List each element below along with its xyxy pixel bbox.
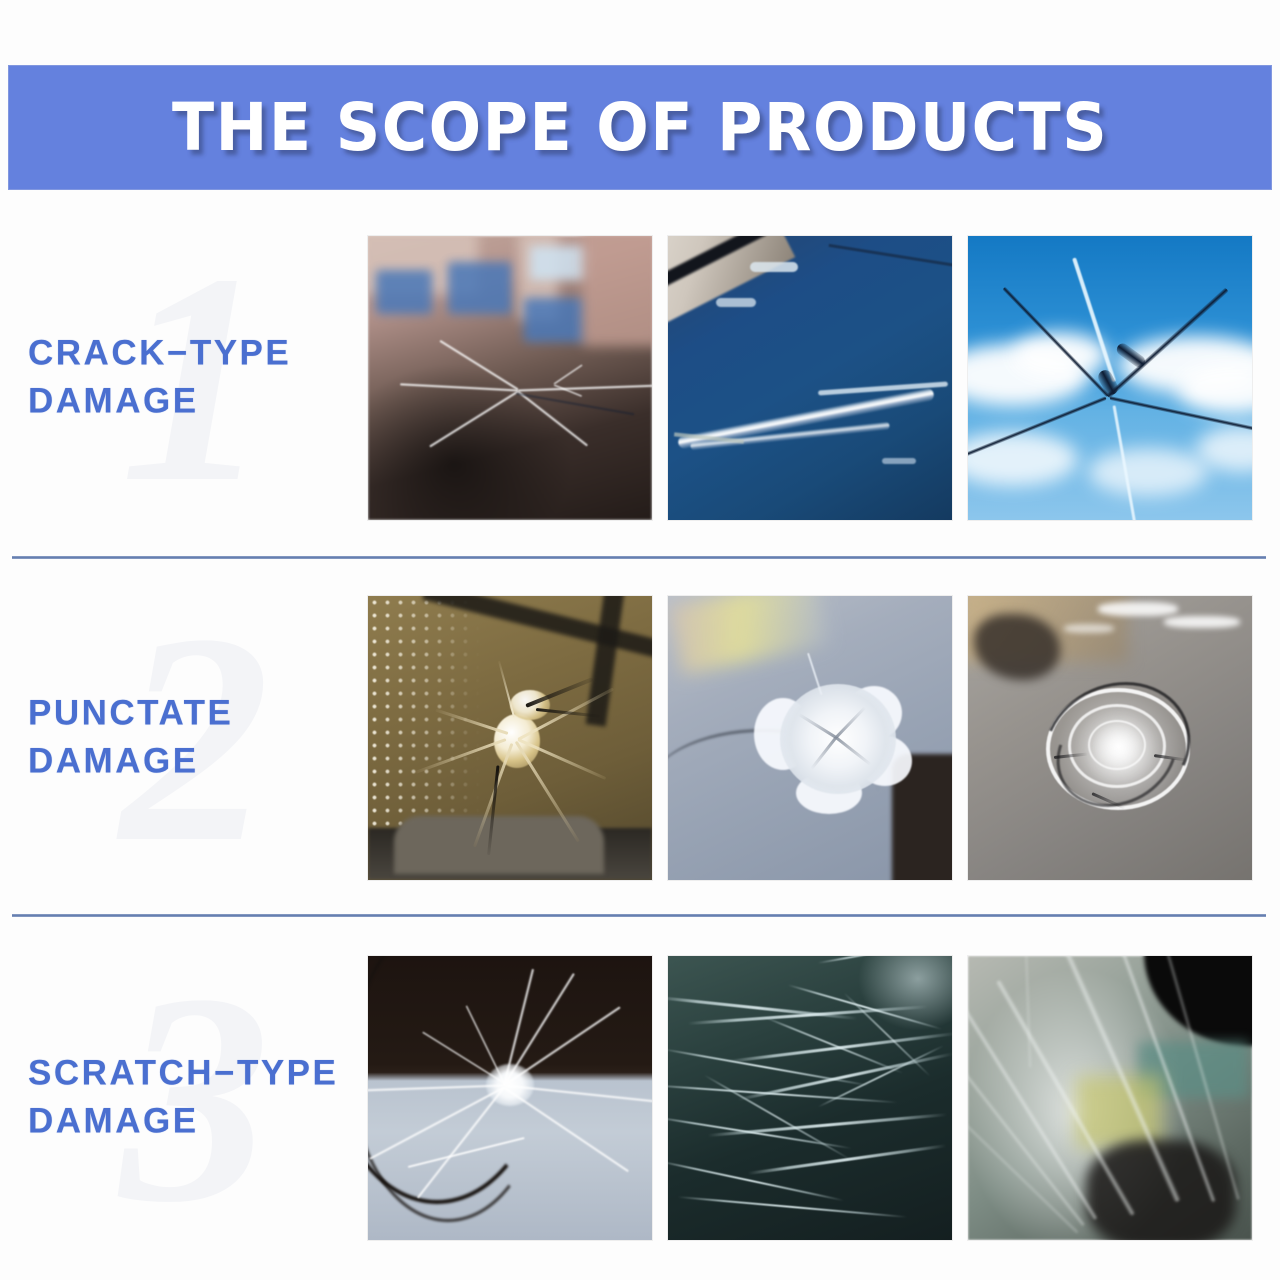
row-label-cell: 2 PUNCTATE DAMAGE (0, 588, 368, 888)
photo-star-crack-windshield (368, 236, 652, 520)
photo-flower-chip-grey-glass (668, 596, 952, 880)
thumbnail-strip (368, 596, 1252, 880)
thumbnail-scratch-1[interactable] (368, 956, 652, 1240)
thumbnail-crack-3[interactable] (968, 236, 1252, 520)
thumbnail-punctate-2[interactable] (668, 596, 952, 880)
photo-long-crack-blue-glass (668, 236, 952, 520)
row-divider-2 (12, 914, 1266, 917)
page-title: THE SCOPE OF PRODUCTS (172, 89, 1108, 166)
row-label-line1: SCRATCH−TYPE (28, 1054, 338, 1093)
thumbnail-strip (368, 956, 1252, 1240)
photo-scratched-headlight-glass (968, 956, 1252, 1240)
photo-star-impact-scratches (368, 956, 652, 1240)
row-label-cell: 1 CRACK−TYPE DAMAGE (0, 228, 368, 528)
row-label-crack-type: CRACK−TYPE DAMAGE (28, 330, 291, 427)
row-label-line2: DAMAGE (28, 738, 233, 786)
row-label-line1: CRACK−TYPE (28, 334, 291, 373)
header-banner: THE SCOPE OF PRODUCTS (8, 65, 1272, 190)
row-label-line2: DAMAGE (28, 1098, 338, 1146)
row-label-scratch-type: SCRATCH−TYPE DAMAGE (28, 1050, 338, 1147)
thumbnail-crack-1[interactable] (368, 236, 652, 520)
row-label-line2: DAMAGE (28, 378, 291, 426)
category-row-scratch-type: 3 SCRATCH−TYPE DAMAGE (0, 948, 1280, 1248)
category-row-crack-type: 1 CRACK−TYPE DAMAGE (0, 228, 1280, 528)
thumbnail-strip (368, 236, 1252, 520)
thumbnail-scratch-2[interactable] (668, 956, 952, 1240)
thumbnail-punctate-1[interactable] (368, 596, 652, 880)
photo-cracks-blue-sky (968, 236, 1252, 520)
row-label-punctate: PUNCTATE DAMAGE (28, 690, 233, 787)
thumbnail-scratch-3[interactable] (968, 956, 1252, 1240)
row-label-cell: 3 SCRATCH−TYPE DAMAGE (0, 948, 368, 1248)
row-label-line1: PUNCTATE (28, 694, 233, 733)
thumbnail-crack-2[interactable] (668, 236, 952, 520)
photo-fine-scratches-teal-glass (668, 956, 952, 1240)
category-row-punctate: 2 PUNCTATE DAMAGE (0, 588, 1280, 888)
photo-chip-olive-windshield (368, 596, 652, 880)
thumbnail-punctate-3[interactable] (968, 596, 1252, 880)
photo-bullseye-chip-grey-glass (968, 596, 1252, 880)
row-divider-1 (12, 556, 1266, 559)
